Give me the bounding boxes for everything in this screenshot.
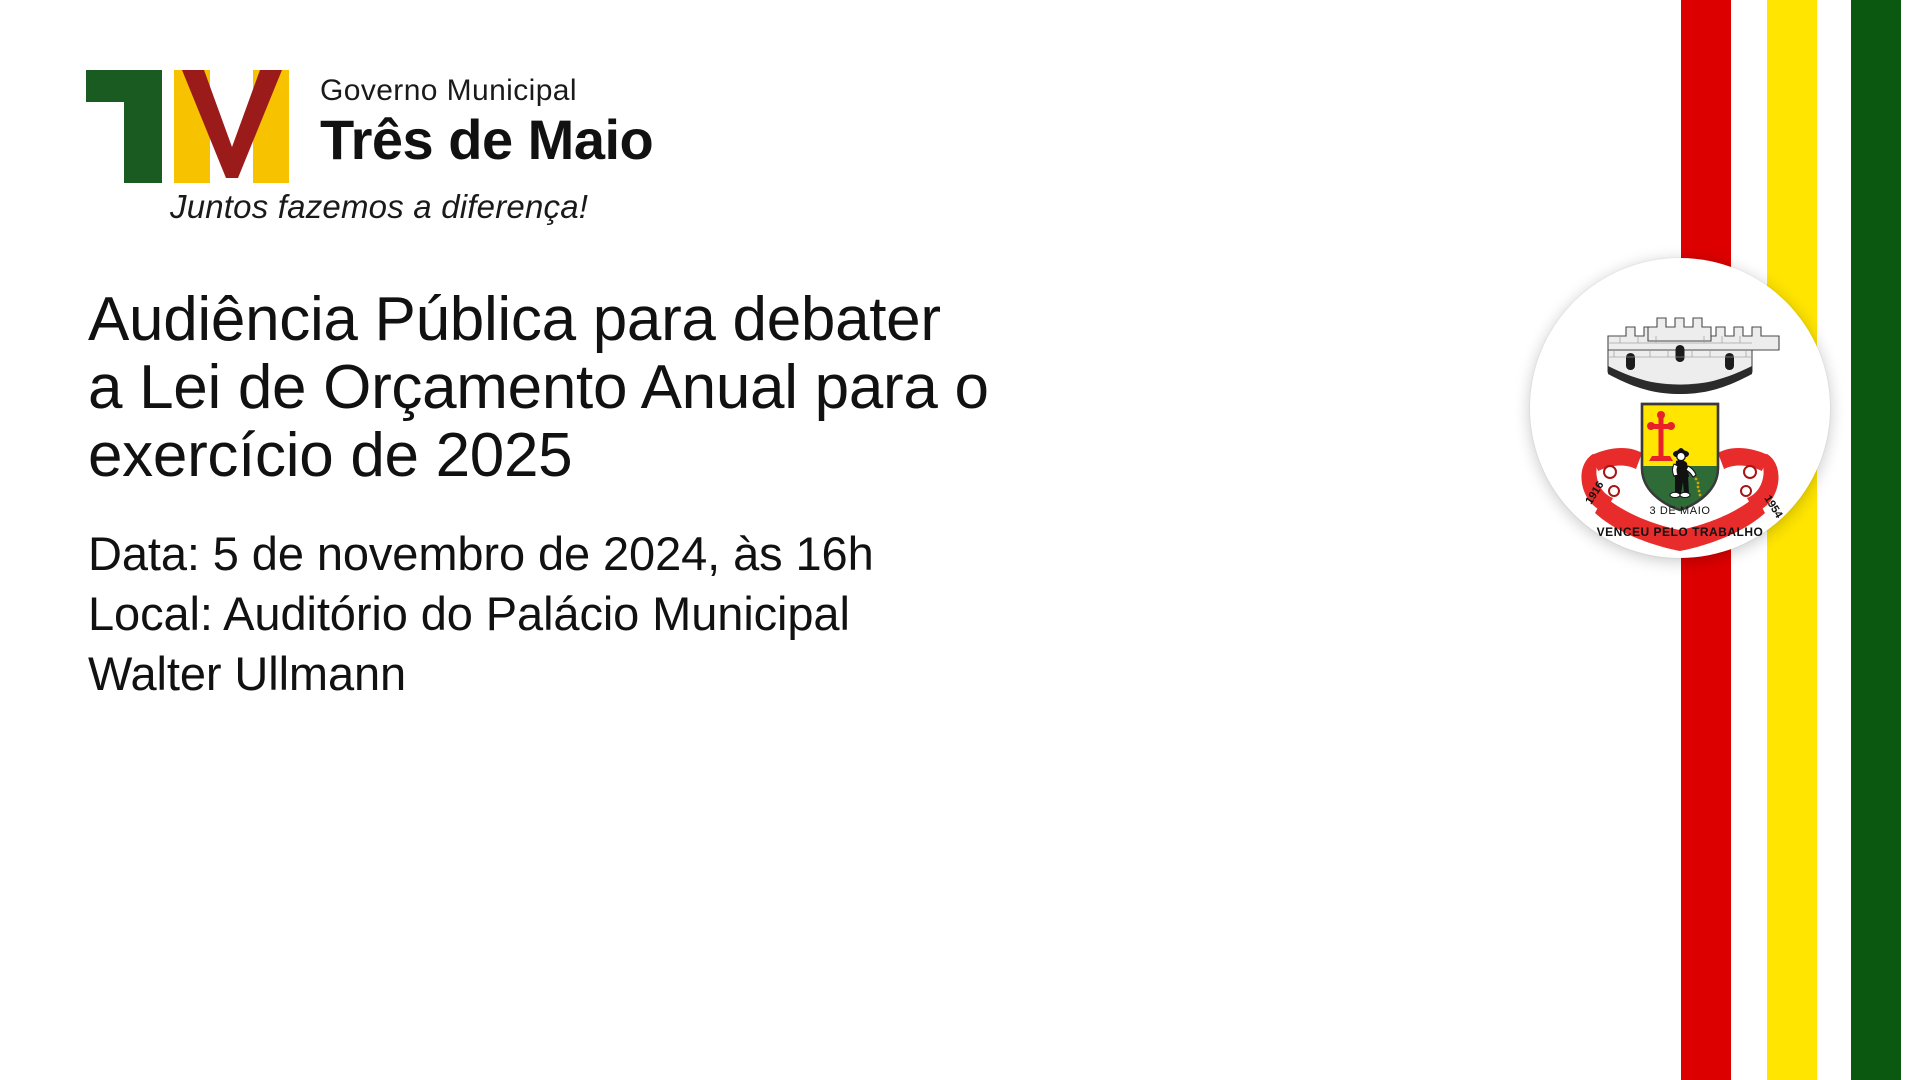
headline-line-1: Audiência Pública para debater bbox=[88, 286, 1108, 354]
tm-monogram-icon bbox=[86, 70, 289, 183]
shield-icon bbox=[1642, 404, 1718, 510]
headline-line-2: a Lei de Orçamento Anual para o bbox=[88, 354, 1108, 422]
stripe-green bbox=[1851, 0, 1901, 1080]
government-label: Governo Municipal bbox=[320, 76, 653, 106]
detail-line-date: Data: 5 de novembro de 2024, às 16h bbox=[88, 524, 1108, 584]
mural-crown-icon bbox=[1608, 318, 1779, 394]
coat-of-arms-badge: 1916 1954 3 DE MAIO VENCEU PELO TRABALHO bbox=[1530, 258, 1830, 558]
announcement-headline: Audiência Pública para debater a Lei de … bbox=[88, 286, 1108, 491]
ribbon-motto: VENCEU PELO TRABALHO bbox=[1597, 525, 1764, 539]
announcement-details: Data: 5 de novembro de 2024, às 16h Loca… bbox=[88, 524, 1108, 704]
coat-of-arms-icon: 1916 1954 3 DE MAIO VENCEU PELO TRABALHO bbox=[1530, 258, 1830, 558]
ribbon-year-right: 1954 bbox=[1761, 493, 1785, 521]
brand-lockup: Governo Municipal Três de Maio bbox=[86, 62, 653, 183]
brand-tagline: Juntos fazemos a diferença! bbox=[170, 188, 588, 226]
detail-line-venue: Walter Ullmann bbox=[88, 644, 1108, 704]
ribbon-city-label: 3 DE MAIO bbox=[1649, 505, 1710, 517]
headline-line-3: exercício de 2025 bbox=[88, 422, 1108, 490]
detail-line-location: Local: Auditório do Palácio Municipal bbox=[88, 584, 1108, 644]
poster-canvas: 1916 1954 3 DE MAIO VENCEU PELO TRABALHO… bbox=[0, 0, 1920, 1080]
city-name: Três de Maio bbox=[320, 110, 653, 169]
